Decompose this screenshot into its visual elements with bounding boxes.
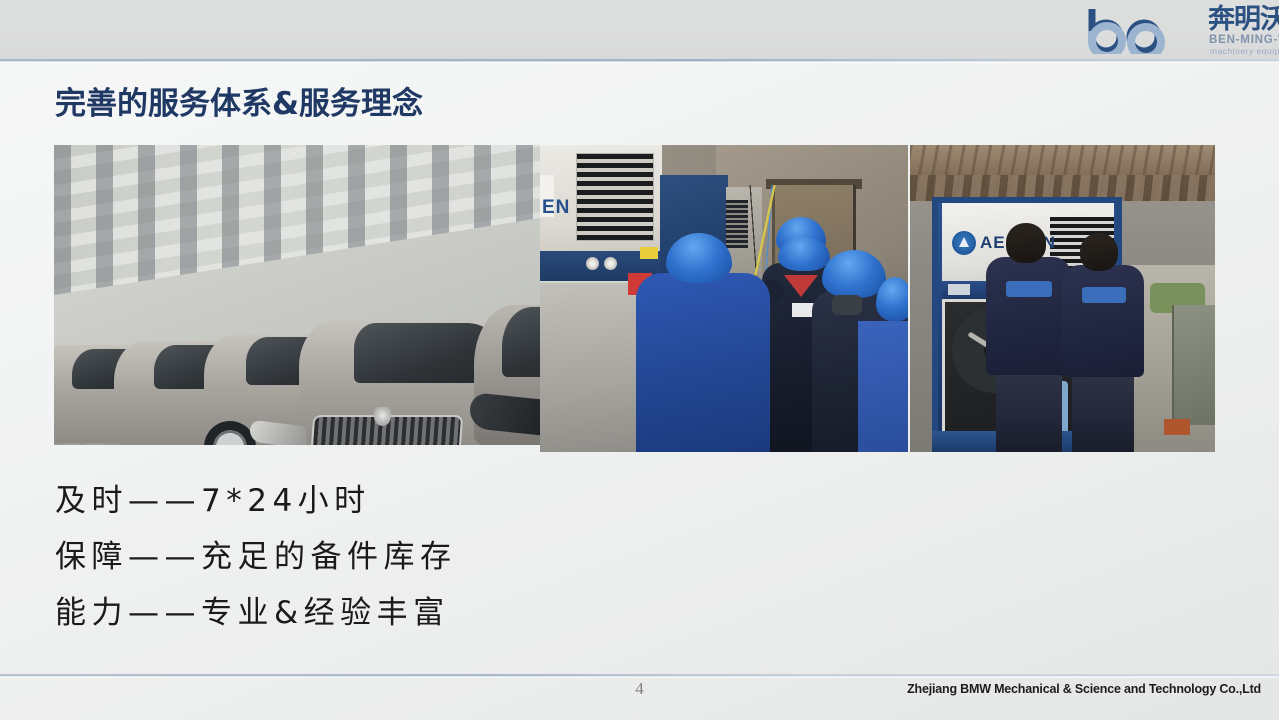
photo3-worker-2-body xyxy=(1062,265,1144,377)
photo-parked-service-cars: G 382P8 xyxy=(54,145,540,445)
photo3-worker-2-legs xyxy=(1072,373,1134,452)
photo3-control-display xyxy=(948,284,970,295)
header-divider-rule xyxy=(0,59,1279,62)
logo-chinese-name: 奔明沃 xyxy=(1208,5,1279,34)
logo-tagline: machinery equipment xyxy=(1210,46,1279,56)
body-text-block: 及时——7*24小时 保障——充足的备件库存 能力——专业&经验丰富 xyxy=(55,473,755,641)
bo-monogram-icon xyxy=(1086,7,1201,54)
photo3-worker-1-body xyxy=(986,257,1071,375)
photo-onsite-technicians: EN xyxy=(540,145,908,452)
photo3-worker-1-head xyxy=(1006,223,1046,263)
photo2-machine-label: EN xyxy=(542,197,570,219)
photo2-machine-vent xyxy=(576,153,654,241)
photo3-aerzen-logo-mark xyxy=(959,237,969,247)
slide-title: 完善的服务体系&服务理念 xyxy=(55,78,423,123)
photo2-control-knob-2 xyxy=(604,257,617,270)
company-logo: 奔明沃 BEN-MING-WO machinery equipment xyxy=(1026,4,1271,56)
photo2-yellow-warning-sticker xyxy=(640,247,658,259)
photo3-brick xyxy=(1164,419,1190,435)
body-line-3: 能力——专业&经验丰富 xyxy=(55,585,755,641)
photo2-cabinet-vent xyxy=(726,200,748,248)
footer-company-name: Zhejiang BMW Mechanical & Science and Te… xyxy=(907,682,1261,696)
photo2-control-knob-1 xyxy=(586,257,599,270)
body-line-1: 及时——7*24小时 xyxy=(55,473,755,529)
photo3-worker-2-uniform-logo xyxy=(1082,287,1126,303)
presentation-slide: 奔明沃 BEN-MING-WO machinery equipment 完善的服… xyxy=(0,0,1279,720)
photo2-worker-4-body xyxy=(858,321,908,452)
body-line-2: 保障——充足的备件库存 xyxy=(55,529,755,585)
photo3-worker-1-uniform-logo xyxy=(1006,281,1052,297)
photo2-worker-1-body xyxy=(636,273,770,452)
logo-romanized-name: BEN-MING-WO xyxy=(1209,34,1279,46)
photo1-skoda-badge-icon xyxy=(374,407,391,426)
photo-aerzen-blower-service: AERZEN xyxy=(910,145,1215,452)
photo3-side-cabinet xyxy=(1172,305,1215,425)
photo3-worker-2-head xyxy=(1080,233,1118,271)
photo2-worker-3-mask xyxy=(832,295,862,315)
footer-divider-rule xyxy=(0,674,1279,677)
photo2-worker-2b-helmet xyxy=(778,237,830,271)
photo3-worker-1-legs xyxy=(996,371,1062,452)
